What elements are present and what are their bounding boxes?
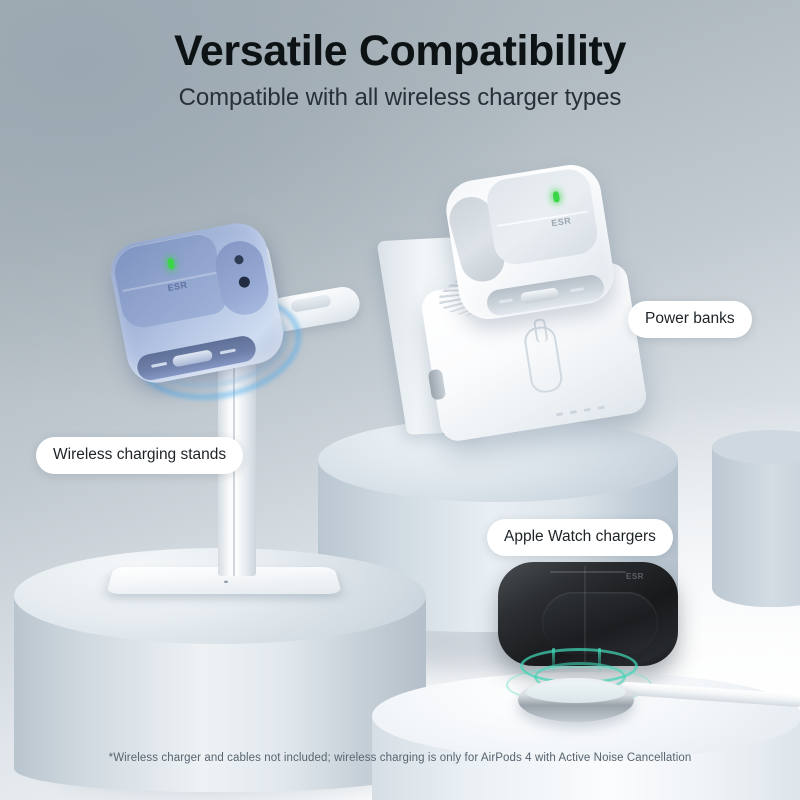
case-blue-nib-left xyxy=(151,362,167,368)
callout-power-banks: Power banks xyxy=(628,301,752,338)
case-black-hinge-line xyxy=(550,571,626,573)
page-title: Versatile Compatibility xyxy=(0,28,800,75)
apple-watch-charger-puck xyxy=(518,678,634,722)
usb-c-port-icon xyxy=(172,349,213,367)
power-bank-clip-icon xyxy=(522,325,564,395)
case-white-nib-left xyxy=(499,298,513,303)
camera-hole-icon xyxy=(238,276,251,289)
airpods-case-blue: ESR xyxy=(106,218,288,388)
usb-c-port-icon xyxy=(520,287,559,304)
airpods-case-white: ESR xyxy=(442,161,618,324)
charger-puck-face xyxy=(526,681,626,703)
brand-logo-esr: ESR xyxy=(626,572,644,581)
watch-charger-puck-icon xyxy=(290,294,331,313)
case-black-inset xyxy=(542,592,658,654)
battery-level-indicator xyxy=(556,406,605,417)
battery-dot xyxy=(556,412,563,416)
battery-dot xyxy=(597,406,604,410)
battery-dot xyxy=(584,408,591,412)
speaker-hole-icon xyxy=(234,254,245,265)
callout-wireless-charging-stands: Wireless charging stands xyxy=(36,437,243,474)
product-marketing-image: ESR ESR xyxy=(0,0,800,800)
pedestal-back-body xyxy=(712,447,800,607)
stand-indicator-dot xyxy=(224,581,228,583)
case-white-nib-right xyxy=(570,287,584,292)
page-subtitle: Compatible with all wireless charger typ… xyxy=(0,84,800,112)
pedestal-back xyxy=(712,430,800,630)
callout-apple-watch-chargers: Apple Watch chargers xyxy=(487,519,673,556)
case-blue-nib-right xyxy=(220,349,236,355)
disclaimer-footnote: *Wireless charger and cables not include… xyxy=(0,752,800,764)
battery-dot xyxy=(570,410,577,414)
